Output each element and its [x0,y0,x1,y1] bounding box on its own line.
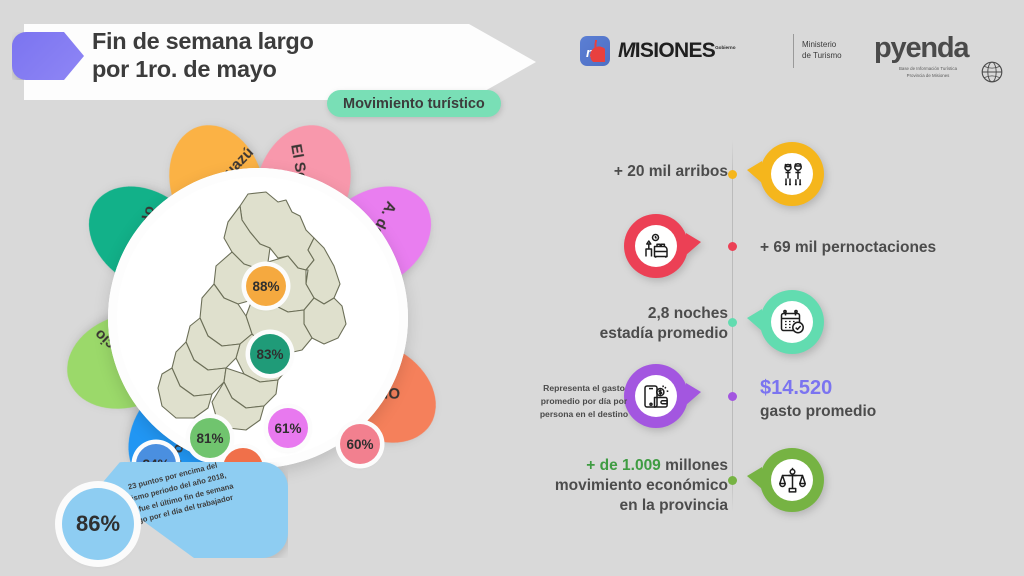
stat-value-block: $14.520gasto promedio [760,376,1020,421]
stat-value: $14.520 [760,376,1020,402]
timeline-dot [728,318,737,327]
tourists-icon [771,153,813,195]
stat-note: Representa el gasto promedio por día por… [528,382,640,421]
percent-badge[interactable]: 81% [190,418,230,458]
page-title: Fin de semana largo por 1ro. de mayo [92,28,512,83]
timeline-dot [728,170,737,179]
stat-label: + de 1.009 millonesmovimiento económicoe… [520,456,728,515]
pyenda-logo: pyenda Base de Información Turística Pro… [874,32,982,79]
stat-icon-bubble[interactable] [760,448,824,512]
misiones-mark-letter: m [586,45,597,60]
balance-scale-icon [771,459,813,501]
stat-icon-bubble[interactable] [624,214,688,278]
hotel-bed-icon [635,225,677,267]
stat-value: + de 1.009 [586,457,661,474]
stat-label: + 69 mil pernoctaciones [760,238,1020,258]
logo-group: m MISIONESGobierno Ministerio de Turismo… [580,32,1010,90]
stat-label: + 20 mil arribos [560,162,728,182]
callout-percent-badge: 86% [62,488,134,560]
percent-badge[interactable]: 88% [246,266,286,306]
stat-text-line-3: en la provincia [520,496,728,516]
pyenda-tagline-2: Provincia de Misiones [874,73,982,80]
timeline-dot [728,476,737,485]
pyenda-tagline-1: Base de Información Turística [874,66,982,73]
misiones-superscript: Gobierno [715,45,735,50]
stat-icon-bubble[interactable] [760,290,824,354]
misiones-word-text: ISIONES [635,39,715,62]
stat-value-caption: gasto promedio [760,402,1020,422]
misiones-logo: m MISIONESGobierno [580,36,736,66]
globe-icon [978,58,1006,86]
logo-divider [793,34,794,68]
percent-value: 83% [256,347,283,362]
misiones-wordmark: MISIONESGobierno [618,39,736,63]
mobile-payment-icon [635,375,677,417]
stat-value-unit: millones [661,457,728,474]
percent-badge[interactable]: 83% [250,334,290,374]
stat-text-line-1: 2,8 noches [530,304,728,324]
percent-value: 88% [252,279,279,294]
percent-value: 61% [274,421,301,436]
timeline-dot [728,242,737,251]
misiones-mark-icon: m [580,36,610,66]
stat-text: + 69 mil pernoctaciones [760,238,1020,258]
ministerio-turismo-label: Ministerio de Turismo [802,40,842,62]
timeline-dot [728,392,737,401]
percent-badge[interactable]: 60% [340,424,380,464]
callout-percent-value: 86% [76,511,120,537]
title-line-2: por 1ro. de mayo [92,56,512,84]
misiones-province-map [128,186,392,450]
stat-icon-bubble[interactable] [760,142,824,206]
stat-text-line-2: estadía promedio [530,324,728,344]
misiones-slash: M [618,39,635,62]
ministerio-line-2: de Turismo [802,51,842,62]
title-line-1: Fin de semana largo [92,28,314,54]
pyenda-wordmark: pyenda [874,32,982,65]
stat-text: + 20 mil arribos [560,162,728,182]
percent-value: 60% [346,437,373,452]
ministerio-line-1: Ministerio [802,40,842,51]
pyenda-tagline: Base de Información Turística Provincia … [874,66,982,79]
calendar-check-icon [771,301,813,343]
statistics-panel: + 20 mil arribos+ 69 mil pernoctaciones2… [520,134,1024,544]
percent-badge[interactable]: 61% [268,408,308,448]
percent-value: 81% [196,431,223,446]
stat-label: Representa el gasto promedio por día por… [528,382,640,421]
stat-text-line-2: movimiento económico [520,476,728,496]
stat-label: 2,8 nochesestadía promedio [530,304,728,344]
